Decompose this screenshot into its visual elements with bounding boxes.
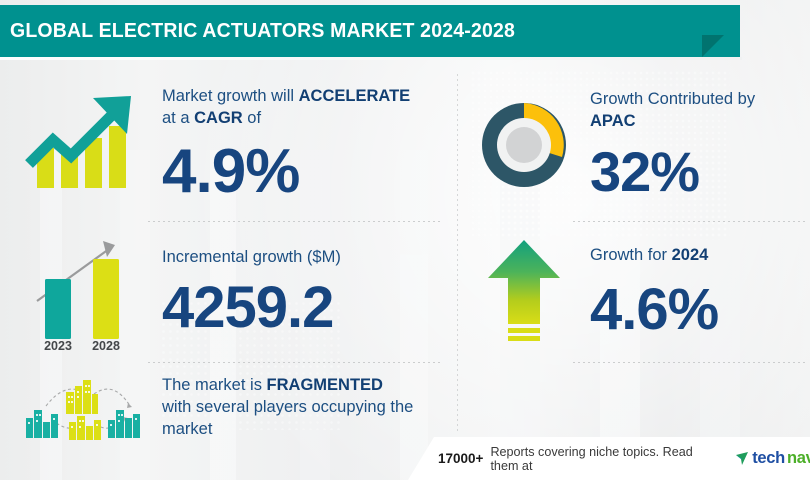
header-underline [0, 57, 742, 60]
footer-bar: 17000+ Reports covering niche topics. Re… [408, 437, 810, 480]
fragmentation-label-fragmented: FRAGMENTED [267, 376, 383, 394]
two-bar-growth-icon: 2023 2028 [18, 232, 146, 352]
fragmentation-label-part1: The market is [162, 376, 267, 394]
cagr-label: Market growth will ACCELERATE at a CAGR … [162, 86, 442, 130]
cell-fragmentation: The market is FRAGMENTED with several pl… [18, 368, 448, 448]
vertical-divider [457, 74, 458, 434]
growth-2024-label: Growth for 2024 [590, 245, 805, 267]
cagr-label-part1: Market growth will [162, 87, 299, 105]
infographic-page: GLOBAL ELECTRIC ACTUATORS MARKET 2024-20… [0, 0, 810, 480]
donut-chart-icon [472, 90, 576, 200]
page-title: GLOBAL ELECTRIC ACTUATORS MARKET 2024-20… [10, 5, 515, 57]
apac-label-part1: Growth Contributed by [590, 90, 755, 108]
technavio-logo-nav: nav [787, 449, 810, 468]
fragmented-market-buildings-icon [18, 370, 146, 446]
cell-apac: Growth Contributed by APAC 32% [472, 72, 807, 217]
svg-text:2023: 2023 [44, 339, 72, 351]
apac-value: 32% [590, 145, 805, 200]
growth-2024-text-block: Growth for 2024 4.6% [590, 245, 805, 339]
divider-right-2 [573, 362, 805, 363]
technavio-arrow-icon [735, 451, 750, 466]
cagr-text-block: Market growth will ACCELERATE at a CAGR … [162, 86, 442, 203]
apac-text-block: Growth Contributed by APAC 32% [590, 89, 805, 200]
technavio-logo[interactable]: technav [735, 449, 810, 468]
fragmentation-label: The market is FRAGMENTED with several pl… [162, 375, 448, 440]
apac-label: Growth Contributed by APAC [590, 89, 805, 133]
cagr-value: 4.9% [162, 142, 442, 203]
growth-bar-chart-arrow-icon [18, 85, 146, 205]
divider-left-2 [148, 362, 443, 363]
growth-2024-label-year: 2024 [672, 246, 709, 264]
incremental-value: 4259.2 [162, 280, 448, 337]
apac-label-region: APAC [590, 112, 636, 130]
cell-cagr: Market growth will ACCELERATE at a CAGR … [18, 72, 448, 217]
incremental-label: Incremental growth ($M) [162, 247, 448, 269]
cagr-label-accelerate: ACCELERATE [299, 87, 411, 105]
growth-2024-label-part1: Growth for [590, 246, 672, 264]
header-banner-fold-shadow [702, 35, 724, 57]
fragmentation-text-block: The market is FRAGMENTED with several pl… [162, 375, 448, 440]
divider-right-1 [573, 221, 805, 222]
cagr-label-part3: of [243, 109, 261, 127]
cell-incremental-growth: 2023 2028 Incremental growth ($M) 4259.2 [18, 228, 448, 356]
svg-text:2028: 2028 [92, 339, 120, 351]
cell-growth-2024: Growth for 2024 4.6% [472, 228, 807, 356]
up-arrow-gradient-icon [472, 233, 576, 351]
technavio-logo-tech: tech [752, 449, 785, 468]
cagr-label-part2: at a [162, 109, 194, 127]
incremental-text-block: Incremental growth ($M) 4259.2 [162, 247, 448, 338]
footer-text: Reports covering niche topics. Read them… [490, 445, 724, 473]
fragmentation-label-part2: with several players occupying the marke… [162, 398, 413, 438]
footer-content: 17000+ Reports covering niche topics. Re… [408, 437, 810, 480]
footer-report-count: 17000+ [438, 451, 483, 466]
growth-2024-value: 4.6% [590, 282, 805, 339]
divider-left-1 [148, 221, 443, 222]
cagr-label-cagr: CAGR [194, 109, 243, 127]
